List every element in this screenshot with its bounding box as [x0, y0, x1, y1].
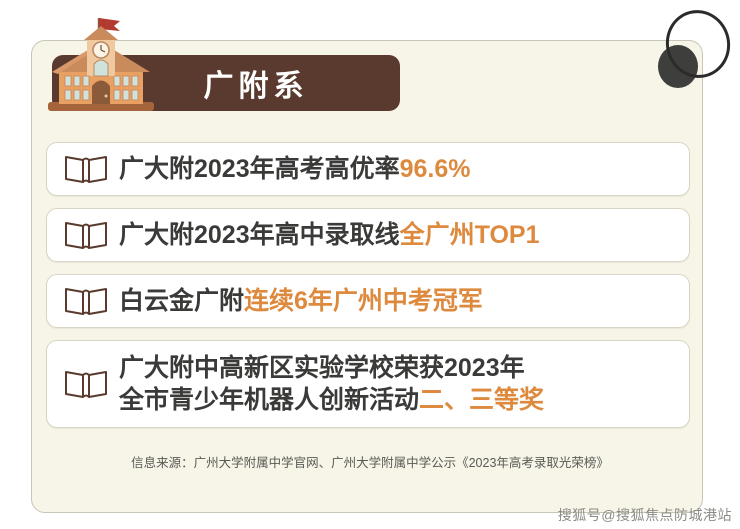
list-item-line: 广大附中高新区实验学校荣获2023年: [119, 352, 544, 385]
list-item-text: 广大附2023年高考高优率96.6%: [119, 157, 471, 182]
source-note: 信息来源：广州大学附属中学官网、广州大学附属中学公示《2023年高考录取光荣榜》: [0, 452, 740, 471]
list-item: 广大附中高新区实验学校荣获2023年 全市青少年机器人创新活动二、三等奖: [46, 340, 690, 428]
list-item-text-plain: 全市青少年机器人创新活动: [119, 386, 419, 414]
achievement-list: 广大附2023年高考高优率96.6% 广大附2023年高中录取线全广州TOP1: [46, 142, 690, 440]
open-book-icon: [63, 152, 109, 186]
list-item: 白云金广附连续6年广州中考冠军: [46, 274, 690, 328]
list-item-text: 白云金广附连续6年广州中考冠军: [119, 289, 483, 314]
open-book-icon: [63, 218, 109, 252]
list-item-text-plain: 广大附2023年高考高优率: [119, 155, 400, 183]
list-item: 广大附2023年高考高优率96.6%: [46, 142, 690, 196]
open-book-icon: [63, 284, 109, 318]
list-item-text-plain: 广大附中高新区实验学校荣获2023年: [119, 354, 525, 382]
infographic-root: 广附系: [0, 0, 740, 529]
open-book-icon: [63, 367, 109, 401]
list-item-text-highlight: 二、三等奖: [419, 386, 544, 414]
list-item-text: 广大附中高新区实验学校荣获2023年 全市青少年机器人创新活动二、三等奖: [119, 352, 544, 417]
list-item-line: 全市青少年机器人创新活动二、三等奖: [119, 384, 544, 417]
list-item-text-plain: 白云金广附: [119, 287, 244, 315]
list-item-text-highlight: 全广州TOP1: [400, 221, 540, 249]
list-item-text-highlight: 96.6%: [400, 155, 471, 183]
list-item-text-highlight: 连续6年广州中考冠军: [244, 287, 483, 315]
school-building-icon: [42, 12, 160, 116]
watermark: 搜狐号@搜狐焦点防城港站: [558, 505, 732, 525]
list-item-text: 广大附2023年高中录取线全广州TOP1: [119, 223, 539, 248]
list-item-text-plain: 广大附2023年高中录取线: [119, 221, 400, 249]
list-item: 广大附2023年高中录取线全广州TOP1: [46, 208, 690, 262]
